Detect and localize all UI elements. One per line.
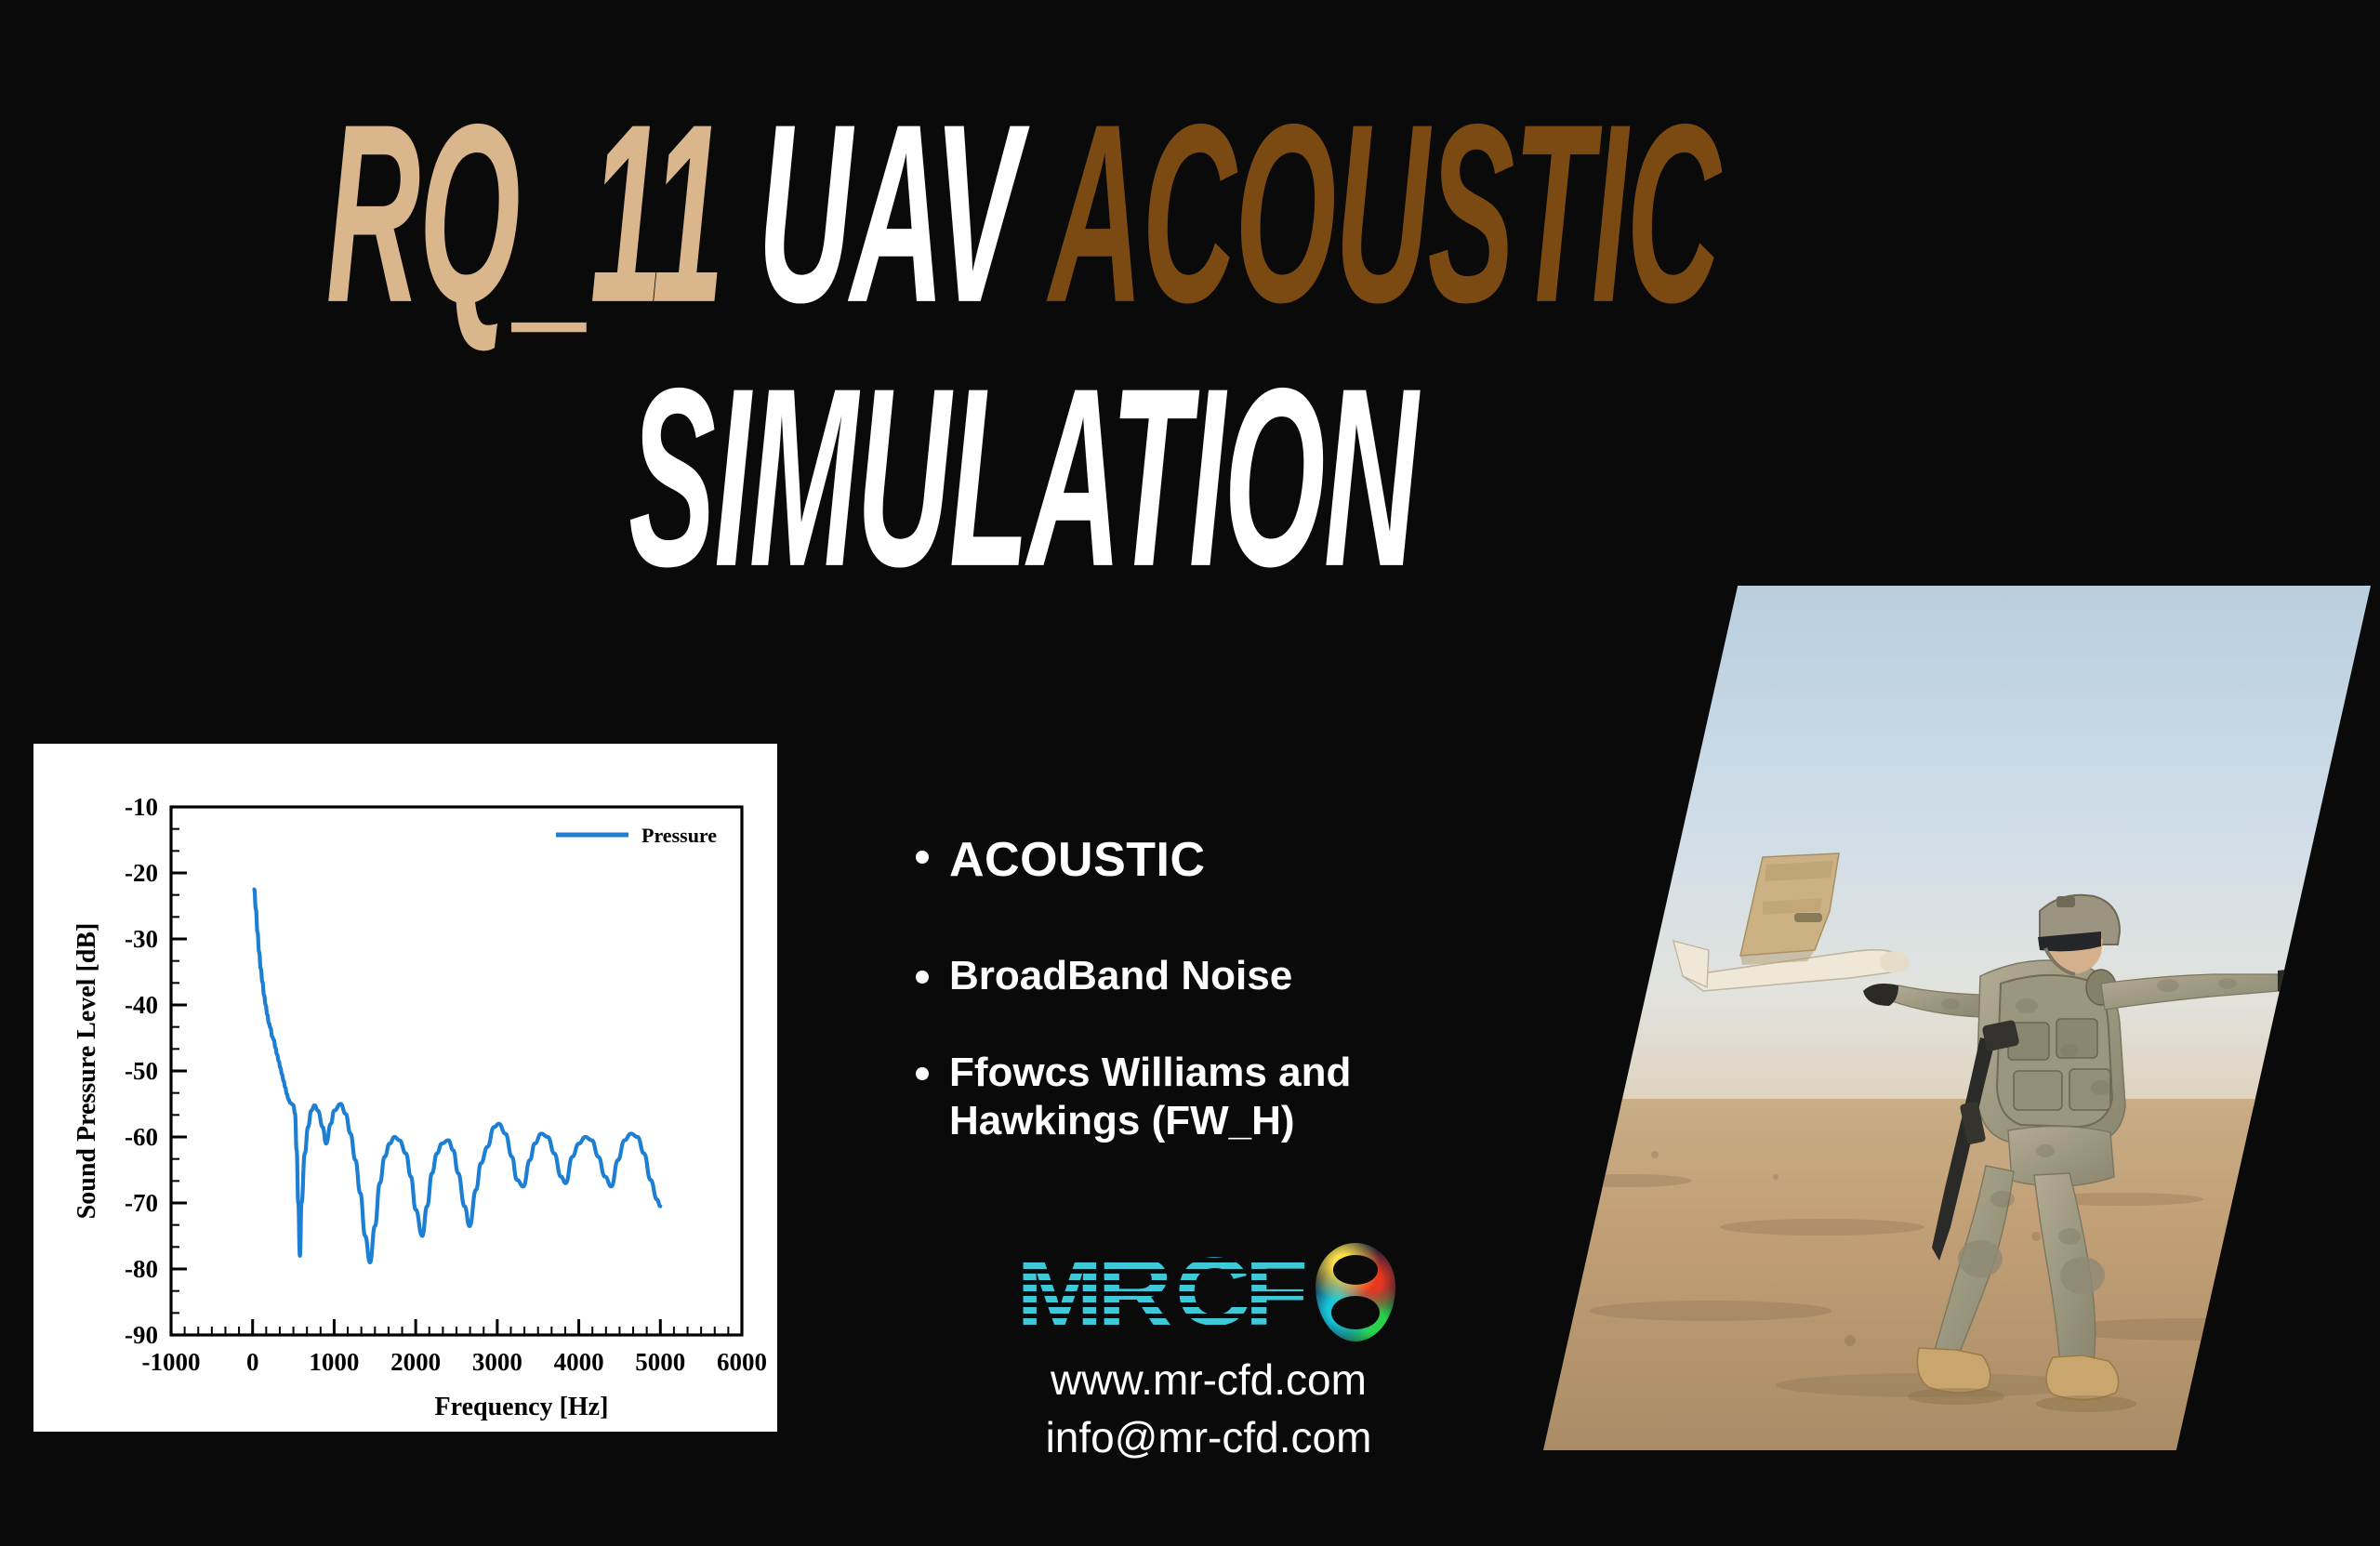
poster-canvas: RQ_11 UAV ACOUSTIC SIMULATION -10-20-30-… — [0, 0, 2380, 1546]
title-word-acoustic: ACOUSTIC — [1049, 73, 1719, 357]
uav-launch-photo-svg — [1543, 586, 2371, 1450]
svg-text:-80: -80 — [125, 1255, 158, 1283]
bullet-dot-icon — [916, 1067, 929, 1080]
logo-word-cf: CF — [1174, 1244, 1302, 1341]
svg-text:2000: 2000 — [390, 1348, 441, 1376]
svg-text:Frequency [Hz]: Frequency [Hz] — [435, 1393, 609, 1421]
bullet-label-acoustic: ACOUSTIC — [949, 832, 1206, 889]
title-word-rq11: RQ_11 — [326, 73, 723, 357]
chart-svg: -10-20-30-40-50-60-70-80-90-100001000200… — [33, 744, 777, 1432]
svg-text:-1000: -1000 — [142, 1348, 201, 1376]
svg-text:3000: 3000 — [472, 1348, 522, 1376]
svg-text:6000: 6000 — [717, 1348, 767, 1376]
poster-title: RQ_11 UAV ACOUSTIC SIMULATION — [0, 98, 2045, 515]
website-url[interactable]: www.mr-cfd.com — [948, 1354, 1469, 1406]
list-item: BroadBand Noise — [916, 952, 1511, 1000]
uav-launch-photo — [1543, 586, 2371, 1450]
title-line-1: RQ_11 UAV ACOUSTIC — [225, 98, 1820, 332]
svg-text:0: 0 — [246, 1348, 259, 1376]
svg-text:-10: -10 — [125, 793, 158, 821]
svg-text:Pressure: Pressure — [641, 824, 717, 847]
svg-text:-30: -30 — [125, 925, 158, 953]
bullet-dot-icon — [916, 851, 929, 864]
svg-text:Sound Pressure Level [dB]: Sound Pressure Level [dB] — [73, 923, 101, 1220]
svg-text:-60: -60 — [125, 1123, 158, 1151]
title-line-2: SIMULATION — [225, 362, 1820, 596]
logo-word-mr: MR — [1016, 1244, 1167, 1341]
title-word-uav: UAV — [758, 73, 1019, 357]
svg-text:4000: 4000 — [554, 1348, 604, 1376]
contact-email[interactable]: info@mr-cfd.com — [948, 1411, 1469, 1463]
mrcfd-logo-block: MR CF www.mr-cfd.com info@mr-cfd.com — [948, 1236, 1469, 1463]
chart-plot-area: -10-20-30-40-50-60-70-80-90-100001000200… — [33, 744, 777, 1432]
bullet-label-fwh: Ffowcs Williams and Hawkings (FW_H) — [949, 1049, 1470, 1145]
mrcfd-logo-art: MR CF — [948, 1236, 1469, 1348]
list-item: Ffowcs Williams and Hawkings (FW_H) — [916, 1049, 1511, 1145]
svg-text:-90: -90 — [125, 1321, 158, 1349]
feature-bullet-list: ACOUSTIC BroadBand Noise Ffowcs Williams… — [916, 832, 1511, 1188]
logo-cfd-d-icon — [1316, 1243, 1395, 1341]
bullet-dot-icon — [916, 971, 929, 984]
svg-text:-70: -70 — [125, 1189, 158, 1217]
svg-text:1000: 1000 — [309, 1348, 359, 1376]
acoustic-spectrum-chart: -10-20-30-40-50-60-70-80-90-100001000200… — [33, 744, 777, 1432]
svg-text:-50: -50 — [125, 1057, 158, 1085]
svg-text:-20: -20 — [125, 859, 158, 887]
svg-text:5000: 5000 — [635, 1348, 685, 1376]
svg-text:-40: -40 — [125, 991, 158, 1019]
list-item: ACOUSTIC — [916, 832, 1511, 889]
bullet-label-broadband: BroadBand Noise — [949, 952, 1292, 1000]
